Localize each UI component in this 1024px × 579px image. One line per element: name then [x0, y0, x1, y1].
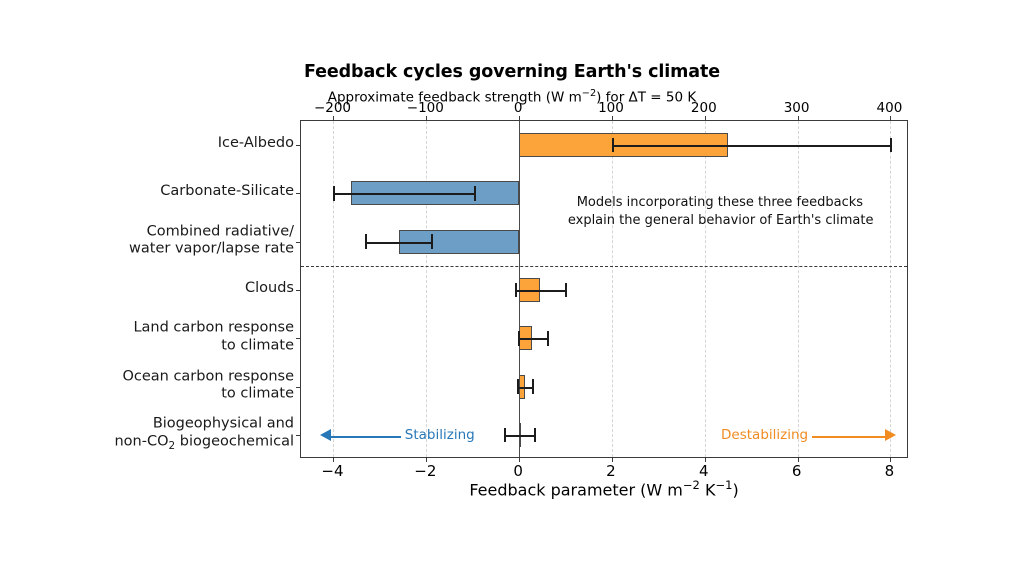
y-axis-category-label-line: Clouds: [245, 280, 294, 298]
error-bar-cap: [518, 331, 520, 345]
models-note-line-1: Models incorporating these three feedbac…: [568, 194, 872, 211]
top-axis-label-pre: Approximate feedback strength (W m: [328, 90, 582, 106]
bottom-axis-label-superscript-1: −2: [683, 478, 700, 492]
models-note-line-2: explain the general behavior of Earth's …: [568, 212, 872, 229]
bottom-tick-mark: [333, 457, 334, 462]
y-tick-mark: [296, 242, 301, 243]
y-axis-category-label-line: Carbonate-Silicate: [160, 184, 294, 202]
y-tick-mark: [296, 290, 301, 291]
gridline: [890, 121, 891, 457]
top-tick-label: 300: [784, 100, 810, 116]
models-note-annotation: Models incorporating these three feedbac…: [568, 194, 872, 228]
y-axis-category-label-line: Biogeophysical and: [114, 415, 294, 433]
error-bar: [365, 242, 432, 244]
y-axis-category-label-line: Ice-Albedo: [218, 135, 294, 153]
y-axis-category-label: Ocean carbon responseto climate: [122, 368, 294, 403]
y-axis-category-label-line: Combined radiative/: [129, 223, 294, 241]
top-tick-mark: [333, 116, 334, 121]
bottom-axis-label: Feedback parameter (W m−2 K−1): [300, 478, 908, 499]
y-axis-category-label-line: to climate: [133, 337, 294, 355]
error-bar: [333, 193, 474, 195]
top-axis-label-superscript: −2: [582, 88, 596, 99]
gridline: [426, 121, 427, 457]
bottom-tick-label: 2: [606, 462, 616, 480]
y-axis-category-label: Biogeophysical andnon-CO2 biogeochemical: [114, 415, 294, 452]
destabilizing-label: Destabilizing: [721, 427, 808, 443]
top-tick-mark: [798, 116, 799, 121]
error-bar-cap: [547, 331, 549, 345]
page-title: Feedback cycles governing Earth's climat…: [0, 62, 1024, 82]
gridline: [705, 121, 706, 457]
gridline: [612, 121, 613, 457]
top-tick-mark: [426, 116, 427, 121]
error-bar: [504, 435, 534, 437]
error-bar-cap: [504, 428, 506, 442]
bottom-tick-label: 6: [792, 462, 802, 480]
y-tick-mark: [296, 145, 301, 146]
error-bar: [517, 387, 532, 389]
bottom-tick-mark: [890, 457, 891, 462]
y-axis-category-label-line: to climate: [122, 386, 294, 404]
error-bar: [518, 338, 547, 340]
top-tick-mark: [612, 116, 613, 121]
top-tick-label: 400: [877, 100, 903, 116]
error-bar-cap: [431, 234, 433, 248]
error-bar: [515, 290, 565, 292]
error-bar-cap: [333, 186, 335, 200]
error-bar-cap: [612, 138, 614, 152]
gridline: [333, 121, 334, 457]
error-bar: [612, 145, 890, 147]
bottom-tick-mark: [705, 457, 706, 462]
plot-area: Models incorporating these three feedbac…: [300, 120, 908, 458]
bottom-tick-label: −2: [414, 462, 436, 480]
top-tick-mark: [890, 116, 891, 121]
top-axis-label: Approximate feedback strength (W m−2) fo…: [0, 88, 1024, 106]
y-tick-mark: [296, 338, 301, 339]
y-tick-mark: [296, 435, 301, 436]
y-axis-category-label: Land carbon responseto climate: [133, 320, 294, 355]
bottom-axis-label-superscript-2: −1: [715, 478, 732, 492]
bottom-tick-label: 4: [699, 462, 709, 480]
error-bar-cap: [515, 283, 517, 297]
y-axis-category-label-line: non-CO2 biogeochemical: [114, 433, 294, 453]
y-axis-category-label-line: water vapor/lapse rate: [129, 241, 294, 259]
bottom-tick-label: −4: [321, 462, 343, 480]
stabilizing-arrow-line: [330, 436, 400, 438]
top-tick-mark: [519, 116, 520, 121]
error-bar-cap: [890, 138, 892, 152]
error-bar-cap: [474, 186, 476, 200]
top-tick-label: 200: [691, 100, 717, 116]
group-separator-line: [301, 266, 907, 267]
bottom-tick-mark: [798, 457, 799, 462]
y-axis-category-label: Carbonate-Silicate: [160, 184, 294, 202]
top-tick-label: −100: [407, 100, 444, 116]
destabilizing-arrow-icon: [885, 429, 896, 441]
top-tick-label: 0: [514, 100, 523, 116]
bottom-tick-mark: [519, 457, 520, 462]
error-bar-cap: [532, 379, 534, 393]
top-tick-label: −200: [314, 100, 351, 116]
stabilizing-label: Stabilizing: [405, 427, 475, 443]
y-tick-mark: [296, 193, 301, 194]
bottom-tick-label: 0: [513, 462, 523, 480]
y-axis-category-label-line: Land carbon response: [133, 320, 294, 338]
y-axis-category-label-line: Ocean carbon response: [122, 368, 294, 386]
bottom-tick-mark: [426, 457, 427, 462]
bottom-axis-label-pre: Feedback parameter (W m: [469, 480, 683, 499]
y-axis-category-label: Clouds: [245, 280, 294, 298]
y-axis-category-label: Combined radiative/water vapor/lapse rat…: [129, 223, 294, 258]
error-bar-cap: [365, 234, 367, 248]
bottom-tick-mark: [612, 457, 613, 462]
y-axis-category-label: Ice-Albedo: [218, 135, 294, 153]
bottom-axis-label-mid: K: [700, 480, 716, 499]
bottom-tick-label: 8: [885, 462, 895, 480]
gridline: [798, 121, 799, 457]
bottom-axis-label-post: ): [732, 480, 738, 499]
destabilizing-arrow-line: [812, 436, 885, 438]
error-bar-cap: [534, 428, 536, 442]
figure-root: Feedback cycles governing Earth's climat…: [0, 0, 1024, 579]
error-bar-cap: [565, 283, 567, 297]
y-tick-mark: [296, 387, 301, 388]
top-tick-mark: [705, 116, 706, 121]
error-bar-cap: [517, 379, 519, 393]
top-tick-label: 100: [598, 100, 624, 116]
